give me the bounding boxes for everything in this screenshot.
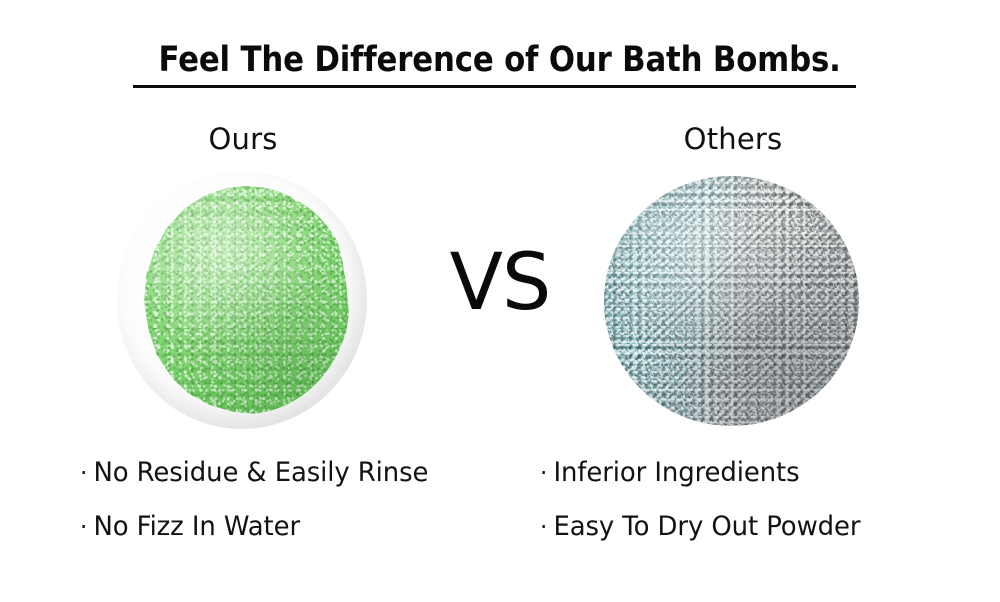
product-image-others <box>604 176 859 426</box>
list-item: ·No Residue & Easily Rinse <box>80 446 428 500</box>
bullet-icon: · <box>80 500 93 554</box>
list-item: ·No Fizz In Water <box>80 500 428 554</box>
column-heading-ours: Ours <box>118 122 368 156</box>
list-item: ·Easy To Dry Out Powder <box>540 500 860 554</box>
list-item: ·Inferior Ingredients <box>540 446 860 500</box>
bullet-icon: · <box>540 500 553 554</box>
bath-bomb-blue-grey-icon <box>604 176 859 426</box>
bullet-icon: · <box>80 446 93 500</box>
feature-list-ours: ·No Residue & Easily Rinse ·No Fizz In W… <box>80 446 443 554</box>
page-title-underline <box>133 85 856 88</box>
bullet-icon: · <box>540 446 553 500</box>
feature-list-others: ·Inferior Ingredients ·Easy To Dry Out P… <box>540 446 874 554</box>
feature-text: Inferior Ingredients <box>553 457 799 488</box>
feature-text: Easy To Dry Out Powder <box>553 511 860 542</box>
comparison-infographic: Feel The Difference of Our Bath Bombs. O… <box>0 0 1000 602</box>
page-title: Feel The Difference of Our Bath Bombs. <box>154 40 847 80</box>
versus-label: VS <box>420 244 580 322</box>
page-title-wrap: Feel The Difference of Our Bath Bombs. <box>0 40 1000 80</box>
feature-text: No Residue & Easily Rinse <box>93 457 428 488</box>
bath-bomb-streak-texture <box>614 196 736 411</box>
feature-text: No Fizz In Water <box>93 511 300 542</box>
column-heading-others: Others <box>605 122 861 156</box>
product-image-ours <box>117 171 367 429</box>
